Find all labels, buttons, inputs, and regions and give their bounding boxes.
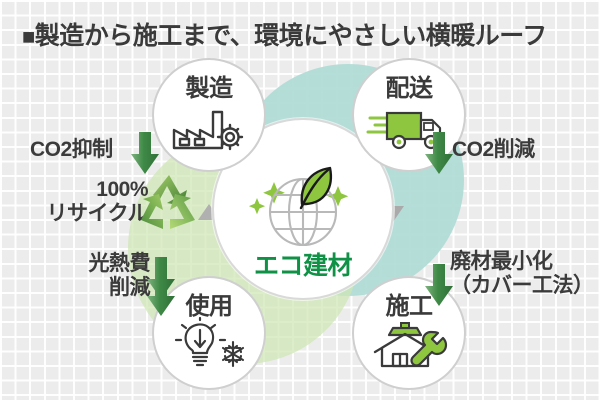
green-down-arrow-icon-waste <box>424 262 454 308</box>
green-down-arrow-icon-co2-reduce <box>424 130 454 176</box>
factory-gear-icon <box>170 106 248 152</box>
infographic-canvas: ■製造から施工まで、環境にやさしい横暖ルーフ <box>0 0 600 400</box>
node-shipping-label: 配送 <box>354 68 464 103</box>
benefit-waste-line1: 廃材最小化 <box>450 250 594 274</box>
benefit-co2-suppress: CO2抑制 <box>30 138 113 162</box>
benefit-recycle-line1: 100% <box>28 178 148 202</box>
node-manufacturing-label: 製造 <box>154 68 264 103</box>
benefit-waste-line2: （カバー工法） <box>450 274 594 298</box>
globe-leaf-icon <box>244 146 362 250</box>
green-down-arrow-icon-usage <box>146 272 176 318</box>
center-node-label: エコ建材 <box>214 246 392 282</box>
benefit-energy-line2: 削減 <box>32 276 150 300</box>
benefit-recycle: 100% リサイクル <box>28 178 148 225</box>
recycle-symbol-icon <box>136 172 202 236</box>
green-down-arrow-icon-co2-suppress <box>130 130 160 176</box>
benefit-energy-line1: 光熱費 <box>32 252 150 276</box>
title-bullet-icon: ■ <box>22 24 35 49</box>
title-text: 製造から施工まで、環境にやさしい横暖ルーフ <box>35 22 547 50</box>
benefit-co2-reduce: CO2削減 <box>452 138 535 162</box>
benefit-energy-saving: 光熱費 削減 <box>32 252 150 299</box>
benefit-waste-minimize: 廃材最小化 （カバー工法） <box>450 250 594 298</box>
benefit-recycle-line2: リサイクル <box>28 202 148 226</box>
house-wrench-icon <box>369 318 449 370</box>
node-manufacturing[interactable]: 製造 <box>152 58 266 172</box>
page-title: ■製造から施工まで、環境にやさしい横暖ルーフ <box>22 16 547 52</box>
lightbulb-snowflake-icon <box>170 318 248 370</box>
